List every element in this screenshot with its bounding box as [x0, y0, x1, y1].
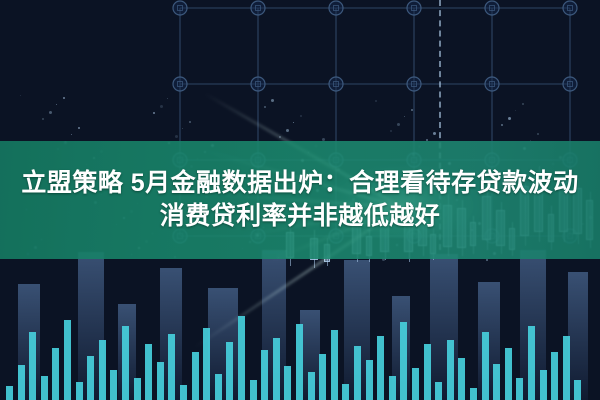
sparkle-dot	[182, 128, 183, 129]
sparkle-dot	[167, 98, 168, 99]
sparkle-dot	[433, 132, 436, 135]
volume-bar	[482, 332, 489, 400]
volume-bar	[516, 378, 523, 400]
volume-bar	[64, 320, 71, 400]
volume-bar	[6, 386, 13, 400]
volume-bar	[203, 328, 210, 400]
volume-bar	[29, 332, 36, 400]
volume-bar	[458, 358, 465, 400]
volume-bar	[354, 346, 361, 400]
volume-bar	[319, 354, 326, 400]
sparkle-dot	[508, 117, 511, 120]
volume-bar	[377, 336, 384, 400]
sparkle-dot	[20, 95, 21, 96]
sparkle-dot	[49, 111, 52, 114]
volume-bar	[145, 344, 152, 400]
volume-bar	[284, 366, 291, 400]
volume-bar	[389, 376, 396, 400]
volume-bar	[528, 326, 535, 400]
volume-bar	[342, 384, 349, 400]
sparkle-dot	[404, 116, 405, 117]
sparkle-dot	[300, 115, 302, 117]
sparkle-dot	[160, 105, 163, 108]
volume-bar	[157, 362, 164, 400]
volume-bar	[134, 378, 141, 400]
sparkle-dot	[293, 122, 294, 123]
sparkle-dot	[411, 109, 413, 111]
volume-bar	[273, 338, 280, 400]
volume-bar	[110, 370, 117, 400]
volume-bar	[505, 348, 512, 400]
volume-bar	[215, 374, 222, 400]
sparkle-dot	[537, 133, 539, 135]
sparkle-dot	[390, 130, 392, 132]
headline-line-2: 消费贷利率并非越低越好	[160, 200, 441, 234]
volume-bar	[563, 336, 570, 400]
sparkle-dot	[264, 106, 266, 108]
volume-bar	[192, 352, 199, 400]
volume-bar	[574, 380, 581, 400]
sparkle-dot	[42, 118, 44, 120]
volume-bar	[308, 372, 315, 400]
volume-bar	[470, 388, 477, 400]
volume-bar	[296, 324, 303, 400]
volume-bar	[168, 334, 175, 400]
volume-bar	[493, 364, 500, 400]
volume-bar	[424, 344, 431, 400]
sparkle-dot	[501, 124, 503, 126]
volume-bar	[226, 342, 233, 400]
volume-bars-chart	[0, 250, 600, 400]
volume-bar	[366, 360, 373, 400]
sparkle-dot	[271, 99, 274, 102]
sparkle-dot	[71, 134, 72, 135]
volume-bar	[400, 322, 407, 400]
sparkle-dot	[78, 127, 80, 129]
volume-bar	[52, 348, 59, 400]
sparkle-dot	[153, 112, 155, 114]
volume-bar	[331, 330, 338, 400]
volume-bar	[122, 326, 129, 400]
sparkle-dot	[63, 97, 65, 99]
banner-image: 立盟策略 5月金融数据出炉：合理看待存贷款波动 消费贷利率并非越低越好	[0, 0, 600, 400]
volume-bar	[261, 350, 268, 400]
volume-bar	[76, 382, 83, 400]
volume-bar	[238, 316, 245, 400]
volume-bar	[435, 382, 442, 400]
volume-bar	[551, 352, 558, 400]
sparkle-dot	[375, 100, 377, 102]
volume-bar	[87, 356, 94, 400]
headline-line-1: 立盟策略 5月金融数据出炉：合理看待存贷款波动	[21, 167, 578, 201]
volume-bar	[412, 368, 419, 400]
headline-banner: 立盟策略 5月金融数据出炉：合理看待存贷款波动 消费贷利率并非越低越好	[0, 141, 600, 259]
volume-bar	[180, 385, 187, 400]
sparkle-dot	[515, 110, 516, 111]
sparkle-dot	[397, 123, 400, 126]
sparkle-dot	[189, 121, 191, 123]
volume-bar	[18, 365, 25, 400]
sparkle-dot	[56, 104, 57, 105]
volume-bar	[540, 370, 547, 400]
sparkle-dot	[279, 136, 281, 138]
volume-bar	[250, 380, 257, 400]
sparkle-dot	[522, 103, 524, 105]
volume-bar	[447, 340, 454, 400]
sparkle-dot	[286, 129, 289, 132]
sparkle-dot	[175, 135, 178, 138]
volume-bar	[99, 340, 106, 400]
volume-bar	[41, 376, 48, 400]
